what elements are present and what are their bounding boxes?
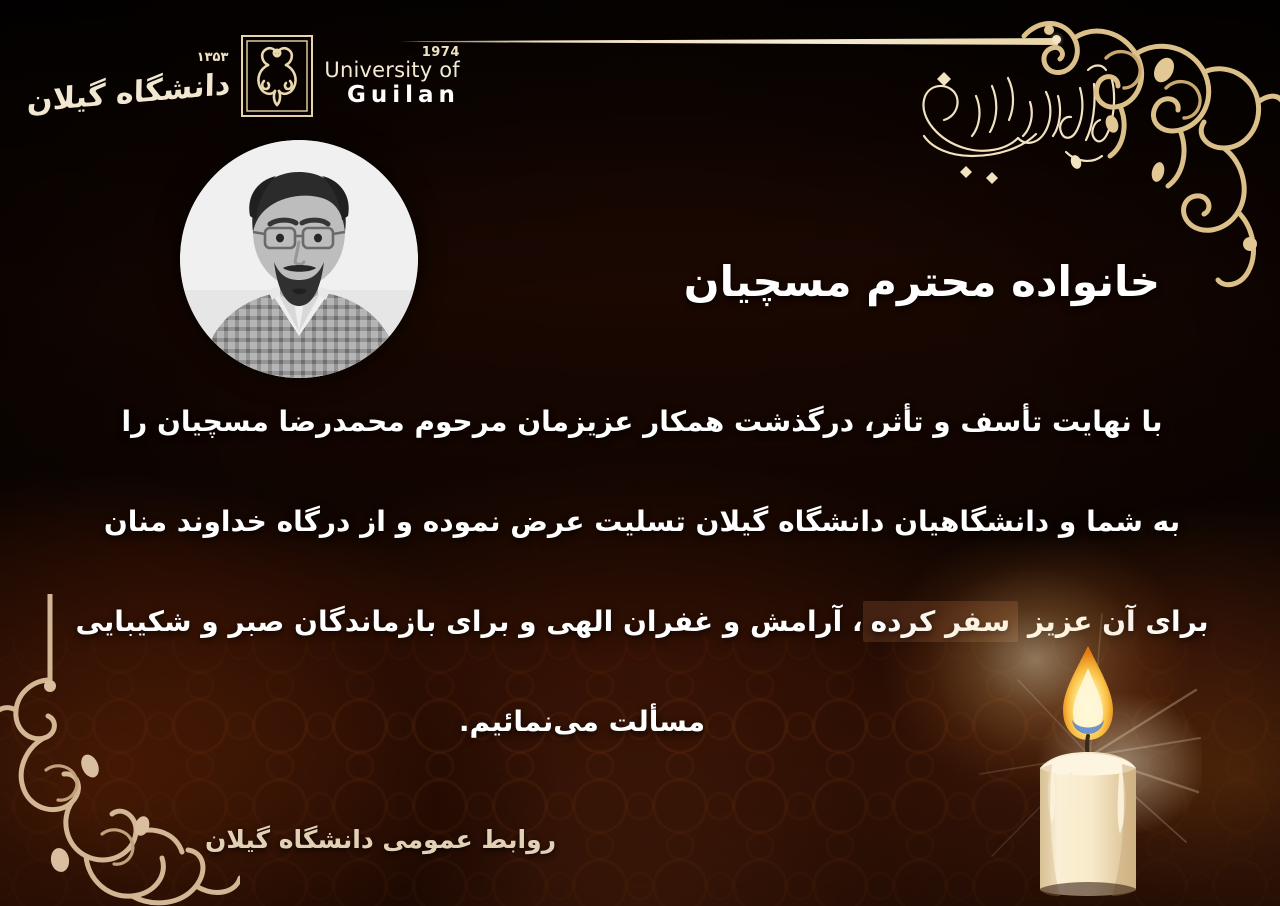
message-line-3-after: ، آرامش و غفران الهی و برای بازماندگان ص… xyxy=(75,605,862,638)
logo-year-en: 1974 xyxy=(422,46,460,59)
page-title: خانواده محترم مسچیان xyxy=(640,256,1160,309)
message-line-2: به شما و دانشگاهیان دانشگاه گیلان تسلیت … xyxy=(56,472,1228,572)
lit-candle-icon xyxy=(972,606,1202,906)
arabesque-ornament-top-right-icon xyxy=(1018,0,1280,288)
condolence-poster: 1974 University of Guilan ۱۳۵۳ دانشگاه گ… xyxy=(0,0,1280,906)
logo-guilan: Guilan xyxy=(347,84,460,107)
logo-university-of: University of xyxy=(324,60,459,81)
university-logo: 1974 University of Guilan ۱۳۵۳ دانشگاه گ… xyxy=(28,34,460,118)
logo-year-fa: ۱۳۵۳ xyxy=(197,50,231,65)
logo-persian-text: ۱۳۵۳ دانشگاه گیلان xyxy=(28,50,230,102)
footer-credit: روابط عمومی دانشگاه گیلان xyxy=(205,825,556,854)
logo-english-text: 1974 University of Guilan xyxy=(324,46,459,107)
guilan-university-emblem-icon xyxy=(240,34,314,118)
logo-university-name-fa: دانشگاه گیلان xyxy=(27,67,231,120)
deceased-portrait xyxy=(180,140,418,378)
message-line-1: با نهایت تأسف و تأثر، درگذشت همکار عزیزم… xyxy=(56,372,1228,472)
portrait-photo xyxy=(180,140,418,378)
